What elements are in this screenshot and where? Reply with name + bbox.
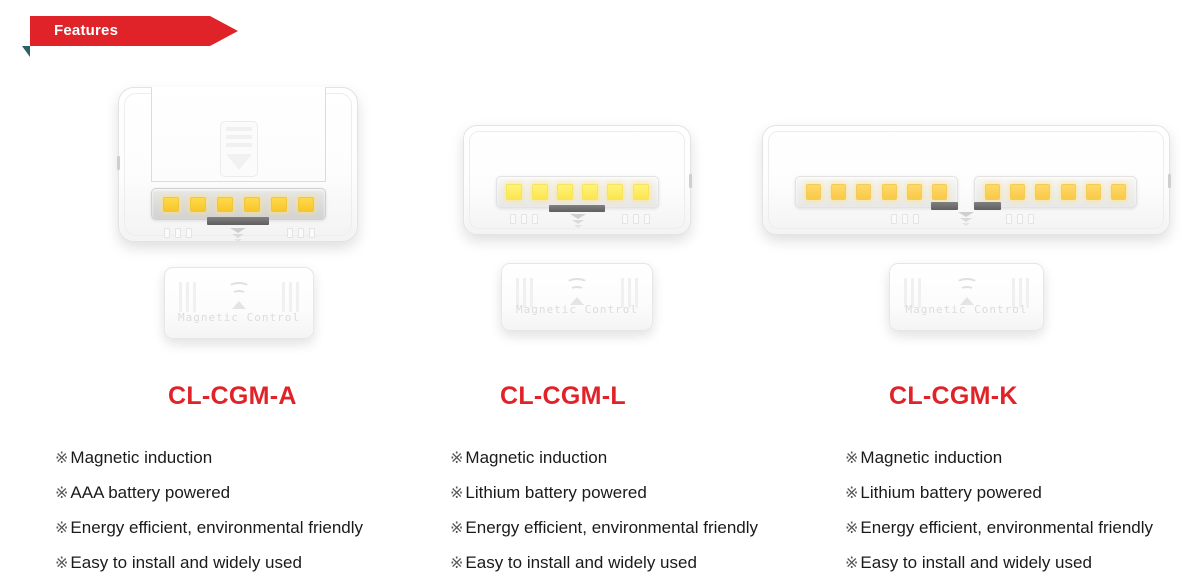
product-image-cl-cgm-a: Magnetic Control [118, 87, 358, 242]
mount-tab [164, 228, 170, 238]
product-image-cl-cgm-k: Magnetic Control [762, 125, 1170, 235]
latch-slide-icon-a [220, 121, 258, 177]
magnetic-control-label-k: Magnetic Control [890, 303, 1043, 316]
banner-fold-icon [22, 46, 30, 57]
led-strip-a [151, 188, 326, 220]
signal-arc-inner [232, 290, 246, 297]
side-button-a[interactable] [117, 156, 120, 170]
contact-bar-k-right [974, 202, 1001, 210]
feature-text: Energy efficient, environmental friendly [70, 511, 363, 545]
contact-bar-a [207, 217, 269, 225]
feature-text: Lithium battery powered [860, 476, 1041, 510]
chevron-icon [572, 220, 584, 224]
mount-tab [521, 214, 527, 224]
led-chip [882, 184, 897, 200]
led-chip [985, 184, 1000, 200]
banner-label: Features [30, 16, 118, 46]
mount-tab [913, 214, 919, 224]
chevron-icon [574, 225, 582, 228]
mount-tab [1028, 214, 1034, 224]
feature-list-cl-cgm-a: ※ Magnetic induction ※ AAA battery power… [55, 441, 363, 581]
mount-tab [622, 214, 628, 224]
magnetic-control-label-a: Magnetic Control [165, 311, 313, 324]
feature-text: Magnetic induction [860, 441, 1002, 475]
led-chip [831, 184, 846, 200]
chevron-icon [234, 239, 242, 242]
mount-tab [298, 228, 304, 238]
led-chip [271, 197, 287, 212]
led-chip [607, 184, 623, 200]
feature-list-cl-cgm-k: ※ Magnetic induction ※ Lithium battery p… [845, 441, 1153, 581]
feature-item: ※ AAA battery powered [55, 476, 363, 511]
chevron-icon [960, 218, 972, 222]
device-body-l [463, 125, 691, 235]
mount-tab [175, 228, 181, 238]
led-chip [244, 197, 260, 212]
magnetic-control-pad-a: Magnetic Control [164, 267, 314, 339]
led-chip [1061, 184, 1076, 200]
led-chip [217, 197, 233, 212]
product-title-cl-cgm-k: CL-CGM-K [889, 382, 1018, 411]
led-chip [506, 184, 522, 200]
led-strip-l [496, 176, 659, 208]
led-chip [298, 197, 314, 212]
feature-item: ※ Magnetic induction [450, 441, 758, 476]
feature-item: ※ Energy efficient, environmental friend… [845, 511, 1153, 546]
feature-text: Easy to install and widely used [860, 546, 1092, 580]
product-title-cl-cgm-l: CL-CGM-L [500, 382, 626, 411]
feature-item: ※ Magnetic induction [845, 441, 1153, 476]
feature-mark-icon: ※ [55, 547, 68, 581]
feature-mark-icon: ※ [55, 477, 68, 511]
feature-text: Energy efficient, environmental friendly [860, 511, 1153, 545]
wifi-signal-icon-a [165, 282, 313, 309]
features-banner: Features [30, 16, 210, 46]
mount-tab [532, 214, 538, 224]
mount-tab [287, 228, 293, 238]
feature-item: ※ Lithium battery powered [845, 476, 1153, 511]
feature-mark-icon: ※ [55, 442, 68, 476]
chevron-icon [958, 212, 974, 217]
mount-tab [633, 214, 639, 224]
feature-text: Lithium battery powered [465, 476, 646, 510]
device-body-k [762, 125, 1170, 235]
magnetic-sensor-icon-a [227, 228, 249, 244]
feature-mark-icon: ※ [845, 547, 858, 581]
mount-tabs-right-k [1006, 214, 1034, 224]
banner-arrow-icon [210, 16, 238, 46]
magnetic-control-label-l: Magnetic Control [502, 303, 652, 316]
led-chip [856, 184, 871, 200]
device-body-a [118, 87, 358, 242]
wifi-signal-icon-k [890, 278, 1043, 305]
side-button-l[interactable] [689, 174, 692, 188]
feature-text: Easy to install and widely used [70, 546, 302, 580]
feature-mark-icon: ※ [845, 442, 858, 476]
magnetic-control-pad-l: Magnetic Control [501, 263, 653, 331]
product-title-cl-cgm-a: CL-CGM-A [168, 382, 297, 411]
feature-list-cl-cgm-l: ※ Magnetic induction ※ Lithium battery p… [450, 441, 758, 581]
feature-item: ※ Magnetic induction [55, 441, 363, 476]
led-chip [163, 197, 179, 212]
mount-tabs-right-l [622, 214, 650, 224]
mount-tabs-left-l [510, 214, 538, 224]
mount-tabs-left-a [164, 228, 192, 238]
banner-body: Features [30, 16, 210, 46]
magnetic-control-pad-k: Magnetic Control [889, 263, 1044, 331]
latch-triangle-icon [226, 154, 252, 170]
mount-tab [186, 228, 192, 238]
feature-item: ※ Energy efficient, environmental friend… [55, 511, 363, 546]
signal-arc-inner [570, 286, 584, 293]
led-chip [1086, 184, 1101, 200]
feature-text: Magnetic induction [465, 441, 607, 475]
feature-item: ※ Easy to install and widely used [845, 546, 1153, 581]
mount-tab [644, 214, 650, 224]
feature-text: AAA battery powered [70, 476, 230, 510]
feature-text: Energy efficient, environmental friendly [465, 511, 758, 545]
magnetic-sensor-icon-k [955, 212, 977, 228]
led-chip [190, 197, 206, 212]
chevron-icon [230, 228, 246, 233]
led-chip [907, 184, 922, 200]
mount-tab [510, 214, 516, 224]
mount-tab [891, 214, 897, 224]
feature-item: ※ Lithium battery powered [450, 476, 758, 511]
latch-bar [226, 135, 252, 139]
led-chip [557, 184, 573, 200]
mount-tabs-right-a [287, 228, 315, 238]
contact-bar-k-left [931, 202, 958, 210]
product-image-cl-cgm-l: Magnetic Control [463, 125, 691, 235]
chevron-icon [232, 234, 244, 238]
feature-item: ※ Easy to install and widely used [55, 546, 363, 581]
magnetic-sensor-icon-l [567, 214, 589, 230]
led-chip [1111, 184, 1126, 200]
feature-item: ※ Easy to install and widely used [450, 546, 758, 581]
feature-mark-icon: ※ [845, 512, 858, 546]
mount-tabs-left-k [891, 214, 919, 224]
signal-arc-inner [960, 286, 974, 293]
chevron-icon [962, 223, 970, 226]
feature-mark-icon: ※ [450, 512, 463, 546]
feature-mark-icon: ※ [450, 547, 463, 581]
chevron-icon [570, 214, 586, 219]
signal-base-triangle-icon [232, 301, 246, 309]
feature-mark-icon: ※ [55, 512, 68, 546]
contact-bar-l [549, 205, 605, 212]
feature-text: Magnetic induction [70, 441, 212, 475]
led-chip [582, 184, 598, 200]
led-chip [932, 184, 947, 200]
latch-bar [226, 143, 252, 147]
features-page: Features [0, 0, 1200, 583]
latch-bar [226, 127, 252, 131]
led-chip [1035, 184, 1050, 200]
led-chip [633, 184, 649, 200]
feature-mark-icon: ※ [450, 442, 463, 476]
mount-tab [1017, 214, 1023, 224]
led-chip [1010, 184, 1025, 200]
led-chip [532, 184, 548, 200]
led-chip [806, 184, 821, 200]
mount-tab [902, 214, 908, 224]
feature-mark-icon: ※ [845, 477, 858, 511]
wifi-signal-icon-l [502, 278, 652, 305]
mount-tab [309, 228, 315, 238]
side-button-k[interactable] [1168, 174, 1171, 188]
product-images-row: Magnetic Control [0, 70, 1200, 360]
feature-text: Easy to install and widely used [465, 546, 697, 580]
mount-tab [1006, 214, 1012, 224]
feature-item: ※ Energy efficient, environmental friend… [450, 511, 758, 546]
feature-mark-icon: ※ [450, 477, 463, 511]
